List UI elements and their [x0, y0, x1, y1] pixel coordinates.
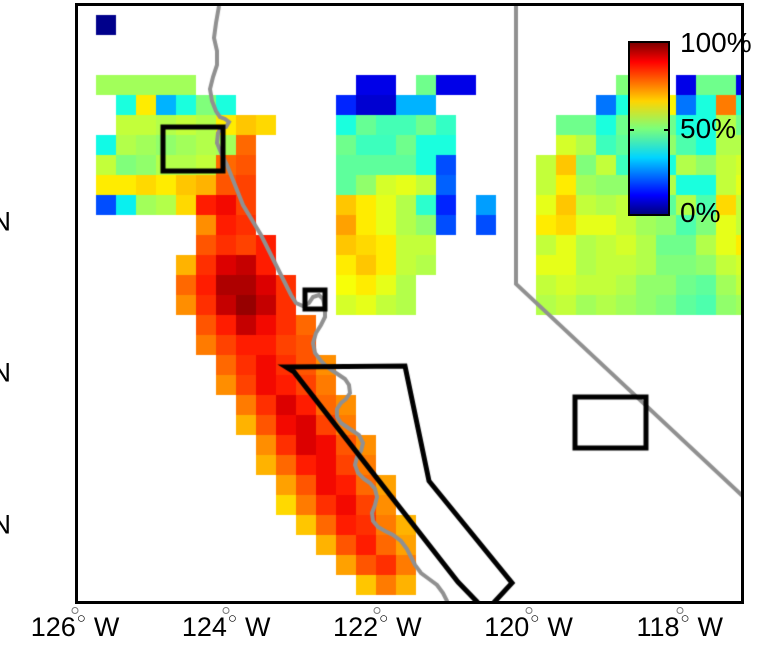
x-axis-tick-mark — [72, 607, 79, 614]
colorbar-label-min: 0% — [680, 197, 720, 229]
x-axis-tick-label-122-W: 122○W — [333, 612, 422, 643]
colorbar-tick-right — [664, 129, 669, 131]
colorbar-gradient — [630, 43, 668, 214]
colorbar-label-mid: 50% — [680, 113, 736, 145]
colorbar-tick-left — [629, 129, 634, 131]
x-axis-tick-label-126-W: 126○W — [31, 612, 120, 643]
colorbar — [628, 41, 670, 216]
y-axis-tick-label-36-N: 36○N — [0, 509, 11, 540]
x-axis-tick-label-118-W: 118○W — [636, 612, 723, 643]
x-axis-tick-mark — [676, 607, 683, 614]
x-axis-tick-mark — [223, 607, 230, 614]
x-axis-tick-mark — [525, 607, 532, 614]
y-axis-tick-label-38-N: 38○N — [0, 358, 11, 389]
colorbar-label-max: 100% — [680, 27, 752, 59]
figure-root: 100% 50% 0% 126○W124○W122○W120○W118○W40○… — [0, 0, 757, 661]
colorbar-group: 100% 50% 0% — [628, 41, 670, 216]
x-axis-tick-label-124-W: 124○W — [182, 612, 271, 643]
x-axis-tick-mark — [374, 607, 381, 614]
y-axis-tick-label-40-N: 40○N — [0, 207, 11, 238]
x-axis-tick-label-120-W: 120○W — [484, 612, 573, 643]
